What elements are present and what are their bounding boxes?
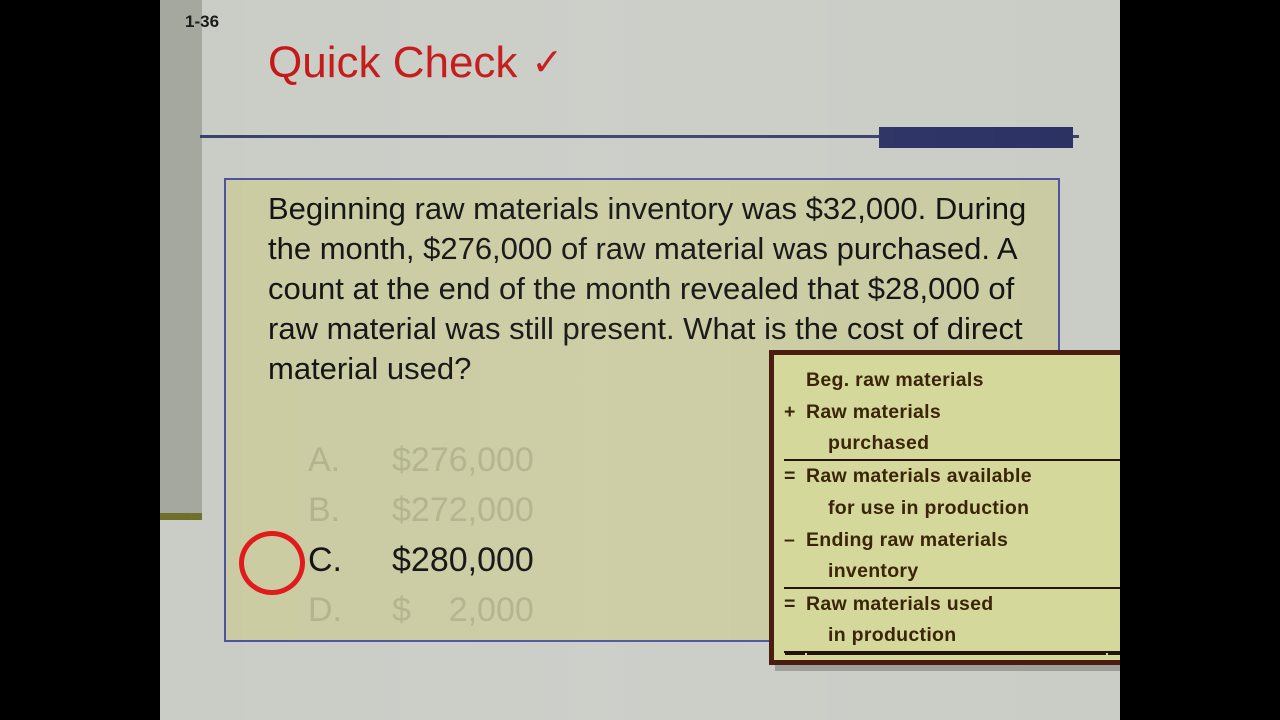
table-row: = Raw materials available bbox=[784, 460, 1120, 492]
answer-letter: A. bbox=[308, 435, 378, 485]
row-operator: = bbox=[784, 588, 806, 620]
row-operator bbox=[784, 492, 806, 524]
table-row: + Raw materials bbox=[784, 396, 1120, 428]
row-amount bbox=[1107, 460, 1120, 492]
answer-value: $ 2,000 bbox=[392, 585, 534, 635]
answer-option-d[interactable]: D. $ 2,000 bbox=[268, 585, 738, 635]
row-operator: + bbox=[784, 396, 806, 428]
selected-answer-ring bbox=[239, 531, 305, 595]
answer-letter: D. bbox=[308, 585, 378, 635]
row-amount bbox=[1107, 396, 1120, 428]
table-row: in production $ 280,000 bbox=[784, 620, 1120, 652]
row-label: Raw materials bbox=[806, 396, 1107, 428]
row-operator bbox=[784, 556, 806, 588]
left-accent-bar bbox=[160, 513, 202, 520]
row-label: Ending raw materials bbox=[806, 524, 1107, 556]
calculation-overlay-card: Beg. raw materials $ 32,000 + Raw materi… bbox=[769, 350, 1120, 665]
row-amount: 28,000 bbox=[1107, 556, 1120, 588]
slide-number: 1-36 bbox=[185, 12, 219, 32]
answer-value: $276,000 bbox=[392, 435, 534, 485]
row-amount: $ 308,000 bbox=[1107, 492, 1120, 524]
calculation-table: Beg. raw materials $ 32,000 + Raw materi… bbox=[784, 364, 1120, 653]
table-row: Beg. raw materials $ 32,000 bbox=[784, 364, 1120, 396]
table-row: – Ending raw materials bbox=[784, 524, 1120, 556]
row-label: inventory bbox=[806, 556, 1107, 588]
row-operator bbox=[784, 620, 806, 652]
row-amount bbox=[1107, 524, 1120, 556]
answer-option-c[interactable]: C. $280,000 bbox=[268, 535, 738, 585]
table-row: = Raw materials used bbox=[784, 588, 1120, 620]
row-label: purchased bbox=[806, 428, 1107, 460]
answer-option-b[interactable]: B. $272,000 bbox=[268, 485, 738, 535]
screen: 1-36 Quick Check✓ Beginning raw material… bbox=[0, 0, 1280, 720]
slide-canvas: 1-36 Quick Check✓ Beginning raw material… bbox=[160, 0, 1120, 720]
row-label: Raw materials used bbox=[806, 588, 1107, 620]
row-operator bbox=[784, 364, 806, 396]
answer-value: $280,000 bbox=[392, 535, 534, 585]
table-row: purchased 276,000 bbox=[784, 428, 1120, 460]
answer-letter: C. bbox=[308, 535, 378, 585]
checkmark-icon: ✓ bbox=[531, 42, 563, 84]
header-navy-block bbox=[879, 127, 1073, 148]
answer-option-a[interactable]: A. $276,000 bbox=[268, 435, 738, 485]
row-amount: $ 280,000 bbox=[1107, 620, 1120, 652]
row-label: Raw materials available bbox=[806, 460, 1107, 492]
answer-value: $272,000 bbox=[392, 485, 534, 535]
row-label: Beg. raw materials bbox=[806, 364, 1107, 396]
left-decoration-band bbox=[160, 0, 202, 513]
row-amount bbox=[1107, 588, 1120, 620]
row-label: in production bbox=[806, 620, 1107, 652]
answer-letter: B. bbox=[308, 485, 378, 535]
row-operator: – bbox=[784, 524, 806, 556]
answer-options-list: A. $276,000 B. $272,000 C. $280,000 D. $… bbox=[268, 435, 738, 635]
row-operator bbox=[784, 428, 806, 460]
row-operator: = bbox=[784, 460, 806, 492]
page-title: Quick Check✓ bbox=[268, 38, 563, 88]
table-row: for use in production $ 308,000 bbox=[784, 492, 1120, 524]
row-amount: 276,000 bbox=[1107, 428, 1120, 460]
row-amount: $ 32,000 bbox=[1107, 364, 1120, 396]
page-title-text: Quick Check bbox=[268, 38, 517, 87]
table-row: inventory 28,000 bbox=[784, 556, 1120, 588]
row-label: for use in production bbox=[806, 492, 1107, 524]
